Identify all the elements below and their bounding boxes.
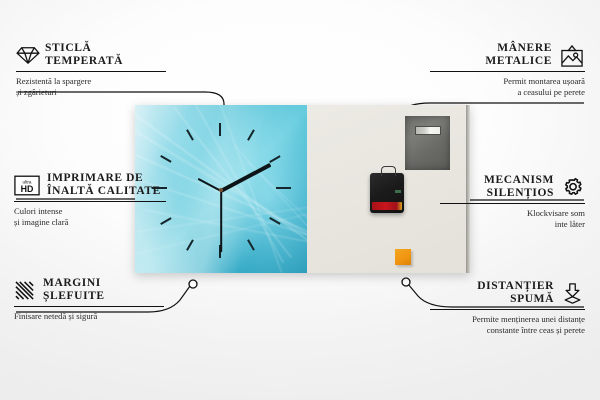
divider — [14, 201, 166, 202]
feature-sub-line-1: Permit montarea ușoară — [503, 76, 585, 86]
feature-callout-mecanism-silentios: MECANISM SILENȚIOS Klockvisare som inte … — [440, 174, 585, 229]
divider — [430, 309, 585, 310]
feature-title-line-1: MECANISM — [484, 174, 554, 186]
feature-title-line-2: METALICE — [485, 55, 552, 67]
feature-callout-manere-metalice: MÂNERE METALICE Permit montarea ușoară a… — [430, 42, 585, 97]
feature-title-line-1: DISTANȚIER — [477, 280, 554, 292]
feature-callout-sticla-temperata: STICLĂ TEMPERATĂ Rezistentă la spargere … — [16, 42, 166, 97]
feature-sub-line-1: Finisare netedă și sigură — [14, 311, 97, 321]
feature-sub-line-2: și zgârieturi — [16, 87, 57, 97]
divider — [430, 71, 585, 72]
clock-minute-hand — [220, 190, 222, 252]
feature-sub-line-2: constante între ceas și perete — [487, 325, 585, 335]
feature-title-line-1: STICLĂ — [45, 42, 91, 54]
diamond-icon — [16, 45, 38, 65]
hatched-corner-icon — [14, 280, 36, 300]
feature-sub-line-1: Rezistentă la spargere — [16, 76, 91, 86]
clock-hub — [219, 188, 223, 192]
feature-sub-line-1: Culori intense — [14, 206, 62, 216]
feature-title-line-1: IMPRIMARE DE — [47, 172, 143, 184]
mechanism-chip — [395, 190, 401, 193]
feature-title-line-1: MARGINI — [43, 277, 101, 289]
divider — [16, 71, 166, 72]
feature-callout-margini-slefuite: MARGINI ȘLEFUITE Finisare netedă și sigu… — [14, 277, 164, 322]
ultra-hd-icon: ultra HD — [14, 175, 40, 195]
feature-title-line-2: TEMPERATĂ — [45, 55, 123, 67]
gear-icon — [561, 177, 585, 197]
divider — [440, 203, 585, 204]
down-arrow-stack-icon — [561, 283, 585, 303]
infographic-canvas: STICLĂ TEMPERATĂ Rezistentă la spargere … — [0, 0, 600, 400]
aa-battery — [372, 202, 402, 210]
feature-title-line-2: ÎNALTĂ CALITATE — [47, 185, 161, 197]
feature-sub-line-1: Permite menținerea unei distanțe — [472, 314, 585, 324]
feature-title-line-2: ȘLEFUITE — [43, 290, 105, 302]
feature-callout-distantier-spuma: DISTANȚIER SPUMĂ Permite menținerea unei… — [430, 280, 585, 335]
picture-frame-icon — [559, 45, 585, 65]
feature-title-line-2: SPUMĂ — [510, 293, 554, 305]
feature-sub-line-2: inte låter — [555, 219, 585, 229]
feature-title-line-2: SILENȚIOS — [487, 187, 554, 199]
hanger-slot — [415, 126, 441, 135]
feature-sub-line-2: și imagine clară — [14, 217, 68, 227]
foam-spacer — [395, 249, 411, 265]
feature-callout-imprimare-hd: ultra HD IMPRIMARE DE ÎNALTĂ CALITATE Cu… — [14, 172, 166, 227]
feature-sub-line-1: Klockvisare som — [527, 208, 585, 218]
hanger-loop — [381, 166, 396, 176]
divider — [14, 306, 164, 307]
clock-mechanism — [370, 173, 404, 213]
svg-text:HD: HD — [21, 184, 34, 194]
metal-hanger-plate — [405, 116, 450, 170]
feature-sub-line-2: a ceasului pe perete — [517, 87, 585, 97]
feature-title-line-1: MÂNERE — [497, 42, 552, 54]
